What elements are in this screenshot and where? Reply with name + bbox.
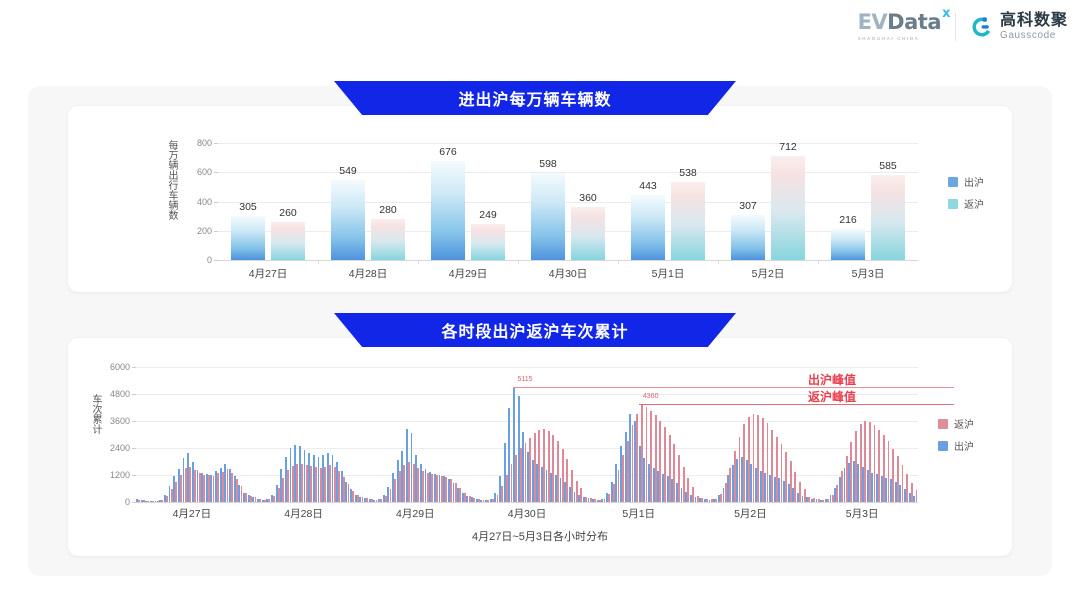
chart1-x-tick-label: 4月29日 — [449, 266, 488, 281]
chart1-bar-value-label: 305 — [239, 201, 257, 213]
chart2-y-tick-mark — [132, 502, 136, 503]
evdata-wordmark-ev: EV — [858, 10, 888, 34]
gausscode-wordmark: 高科数聚 Gausscode — [1000, 13, 1068, 41]
chart1-y-tick-mark — [214, 202, 218, 203]
chart2-x-tick-label: 4月30日 — [508, 506, 547, 521]
chart1-legend-label: 出沪 — [964, 174, 984, 189]
chart2-legend-label: 出沪 — [954, 438, 974, 453]
chart1-y-tick-mark — [214, 231, 218, 232]
chart1-bar-out: 549 — [331, 180, 365, 260]
gausscode-name-en: Gausscode — [1000, 31, 1068, 41]
gausscode-logo: 高科数聚 Gausscode — [970, 13, 1068, 41]
chart2-y-axis-label: 车次累计 — [88, 394, 103, 434]
chart1-gridline — [218, 231, 918, 232]
chart2-y-tick-label: 2400 — [110, 443, 130, 453]
gausscode-mark-icon — [970, 15, 994, 39]
evdata-logo: EVData x SHANGHAI CHINA — [858, 12, 941, 41]
chart1-bar-value-label: 260 — [279, 207, 297, 219]
chart2-plot-area: 0120024003600480060005115出沪峰值4360返沪峰值 — [136, 362, 918, 502]
chart1-bar-return: 360 — [571, 207, 605, 260]
chart1-bar-value-label: 585 — [879, 160, 897, 172]
chart2-y-tick-mark — [132, 448, 136, 449]
chart1-category-separator — [818, 260, 819, 264]
chart2-x-tick-label: 4月29日 — [396, 506, 435, 521]
chart1-bar-value-label: 538 — [679, 167, 697, 179]
chart2-legend-item[interactable]: 出沪 — [938, 438, 974, 453]
chart1-bar-value-label: 280 — [379, 204, 397, 216]
chart1-bar-value-label: 307 — [739, 200, 757, 212]
chart2-peak-value-ret-peak: 4360 — [643, 393, 659, 400]
chart1-bar-value-label: 712 — [779, 141, 797, 153]
chart1-x-tick-label: 5月1日 — [652, 266, 685, 281]
chart1-y-axis-label: 每万辆出行车辆数 — [164, 140, 179, 220]
chart1-category-separator — [618, 260, 619, 264]
chart2-gridline — [136, 367, 918, 368]
chart2-y-tick-mark — [132, 475, 136, 476]
chart1-gridline — [218, 202, 918, 203]
chart-daily-vehicles: 每万辆出行车辆数 0200400600800305260549280676249… — [68, 106, 1012, 292]
chart2-x-tick-label: 5月2日 — [734, 506, 767, 521]
chart1-bar-return: 280 — [371, 219, 405, 260]
chart2-y-tick-label: 6000 — [110, 362, 130, 372]
chart2-legend-label: 返沪 — [954, 416, 974, 431]
chart1-bar-return: 585 — [871, 175, 905, 260]
chart1-y-tick-label: 800 — [197, 138, 212, 148]
chart2-gridline — [136, 394, 918, 395]
chart2-x-tick-label: 5月3日 — [846, 506, 879, 521]
chart2-y-tick-label: 4800 — [110, 389, 130, 399]
chart1-bar-value-label: 249 — [479, 209, 497, 221]
chart2-x-axis-caption: 4月27日~5月3日各小时分布 — [472, 528, 608, 544]
chart2-legend-item[interactable]: 返沪 — [938, 416, 974, 431]
chart2-peak-label-out-peak: 出沪峰值 — [808, 371, 856, 388]
chart2-peak-line-ret-peak — [639, 404, 954, 405]
chart2-legend: 返沪出沪 — [938, 416, 974, 460]
chart1-legend-swatch — [948, 177, 958, 187]
chart1-bar-value-label: 443 — [639, 180, 657, 192]
chart1-y-tick-mark — [214, 172, 218, 173]
chart1-bar-return: 249 — [471, 224, 505, 260]
chart1-category-separator — [418, 260, 419, 264]
chart1-bar-out: 307 — [731, 215, 765, 260]
chart1-x-tick-label: 4月28日 — [349, 266, 388, 281]
chart1-x-tick-label: 4月27日 — [249, 266, 288, 281]
chart2-y-tick-mark — [132, 394, 136, 395]
chart1-bar-out: 216 — [831, 229, 865, 261]
logo-divider — [955, 13, 956, 41]
chart1-category-separator — [318, 260, 319, 264]
evdata-wordmark-data: Data — [887, 10, 941, 34]
chart2-y-tick-label: 0 — [125, 497, 130, 507]
chart1-category-separator — [518, 260, 519, 264]
chart1-bar-value-label: 549 — [339, 165, 357, 177]
chart1-bar-return: 538 — [671, 182, 705, 260]
chart-hourly-trips: 车次累计 0120024003600480060005115出沪峰值4360返沪… — [68, 338, 1012, 556]
dashboard-page: EVData x SHANGHAI CHINA 高科数聚 Gausscode 进… — [0, 0, 1080, 608]
chart2-hour-bar-return — [916, 490, 918, 502]
chart1-y-tick-mark — [214, 260, 218, 261]
chart1-legend-label: 返沪 — [964, 196, 984, 211]
chart1-bar-value-label: 598 — [539, 158, 557, 170]
chart1-legend-item[interactable]: 返沪 — [948, 196, 984, 211]
chart1-legend-item[interactable]: 出沪 — [948, 174, 984, 189]
chart1-bar-value-label: 216 — [839, 214, 857, 226]
chart1-y-tick-label: 600 — [197, 167, 212, 177]
logo-bar: EVData x SHANGHAI CHINA 高科数聚 Gausscode — [858, 12, 1068, 41]
chart2-gridline — [136, 502, 918, 503]
chart1-bar-out: 676 — [431, 161, 465, 260]
chart2-x-tick-label: 4月28日 — [284, 506, 323, 521]
chart1-x-tick-label: 5月3日 — [852, 266, 885, 281]
chart1-bar-out: 443 — [631, 195, 665, 260]
chart2-y-tick-mark — [132, 421, 136, 422]
chart2-y-tick-mark — [132, 367, 136, 368]
chart1-legend-swatch — [948, 199, 958, 209]
chart2-x-tick-label: 4月27日 — [173, 506, 212, 521]
chart2-legend-swatch — [938, 419, 948, 429]
chart2-gridline — [136, 448, 918, 449]
chart1-bar-return: 260 — [271, 222, 305, 260]
chart1-y-tick-label: 400 — [197, 197, 212, 207]
chart1-gridline — [218, 260, 918, 261]
chart1-category-separator — [718, 260, 719, 264]
chart1-bar-value-label: 360 — [579, 192, 597, 204]
chart1-bar-out: 305 — [231, 216, 265, 260]
chart1-bar-out: 598 — [531, 173, 565, 260]
chart1-x-tick-label: 5月2日 — [752, 266, 785, 281]
chart2-gridline — [136, 421, 918, 422]
evdata-superscript-icon: x — [942, 7, 950, 20]
chart1-y-tick-mark — [214, 143, 218, 144]
evdata-tagline: SHANGHAI CHINA — [858, 36, 920, 41]
chart1-gridline — [218, 143, 918, 144]
chart2-y-tick-label: 3600 — [110, 416, 130, 426]
chart2-peak-value-out-peak: 5115 — [518, 376, 533, 383]
chart1-y-tick-label: 200 — [197, 226, 212, 236]
chart1-x-tick-label: 4月30日 — [549, 266, 588, 281]
chart2-peak-label-ret-peak: 返沪峰值 — [808, 388, 856, 405]
chart1-bar-value-label: 676 — [439, 146, 457, 158]
chart1-gridline — [218, 172, 918, 173]
chart2-peak-line-out-peak — [513, 387, 954, 388]
evdata-wordmark: EVData x — [858, 12, 941, 33]
chart2-legend-swatch — [938, 441, 948, 451]
chart2-x-tick-label: 5月1日 — [622, 506, 655, 521]
chart1-y-tick-label: 0 — [207, 255, 212, 265]
chart2-y-tick-label: 1200 — [110, 470, 130, 480]
gausscode-name-cn: 高科数聚 — [1000, 13, 1068, 29]
chart-title-banner-hourly: 各时段出沪返沪车次累计 — [334, 313, 736, 347]
chart1-legend: 出沪返沪 — [948, 174, 984, 218]
chart-title-banner-daily: 进出沪每万辆车辆数 — [334, 81, 736, 115]
chart1-plot-area: 0200400600800305260549280676249598360443… — [218, 136, 918, 260]
chart1-bar-return: 712 — [771, 156, 805, 260]
